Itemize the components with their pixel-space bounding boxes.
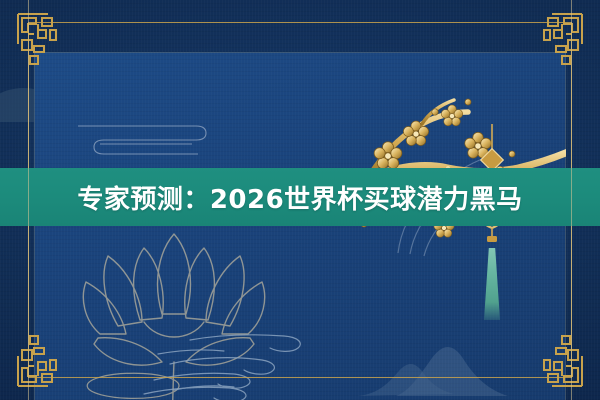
band-frame-line-left xyxy=(28,0,29,400)
band-frame-line-right xyxy=(571,0,572,400)
mountain-silhouette-icon xyxy=(358,332,508,398)
inner-panel xyxy=(34,52,566,400)
banner-image: 专家预测：2026世界杯买球潜力黑马 xyxy=(0,0,600,400)
banner-title: 专家预测：2026世界杯买球潜力黑马 xyxy=(77,179,522,216)
scroll-line-art-icon xyxy=(74,117,214,159)
title-band: 专家预测：2026世界杯买球潜力黑马 xyxy=(0,168,600,226)
